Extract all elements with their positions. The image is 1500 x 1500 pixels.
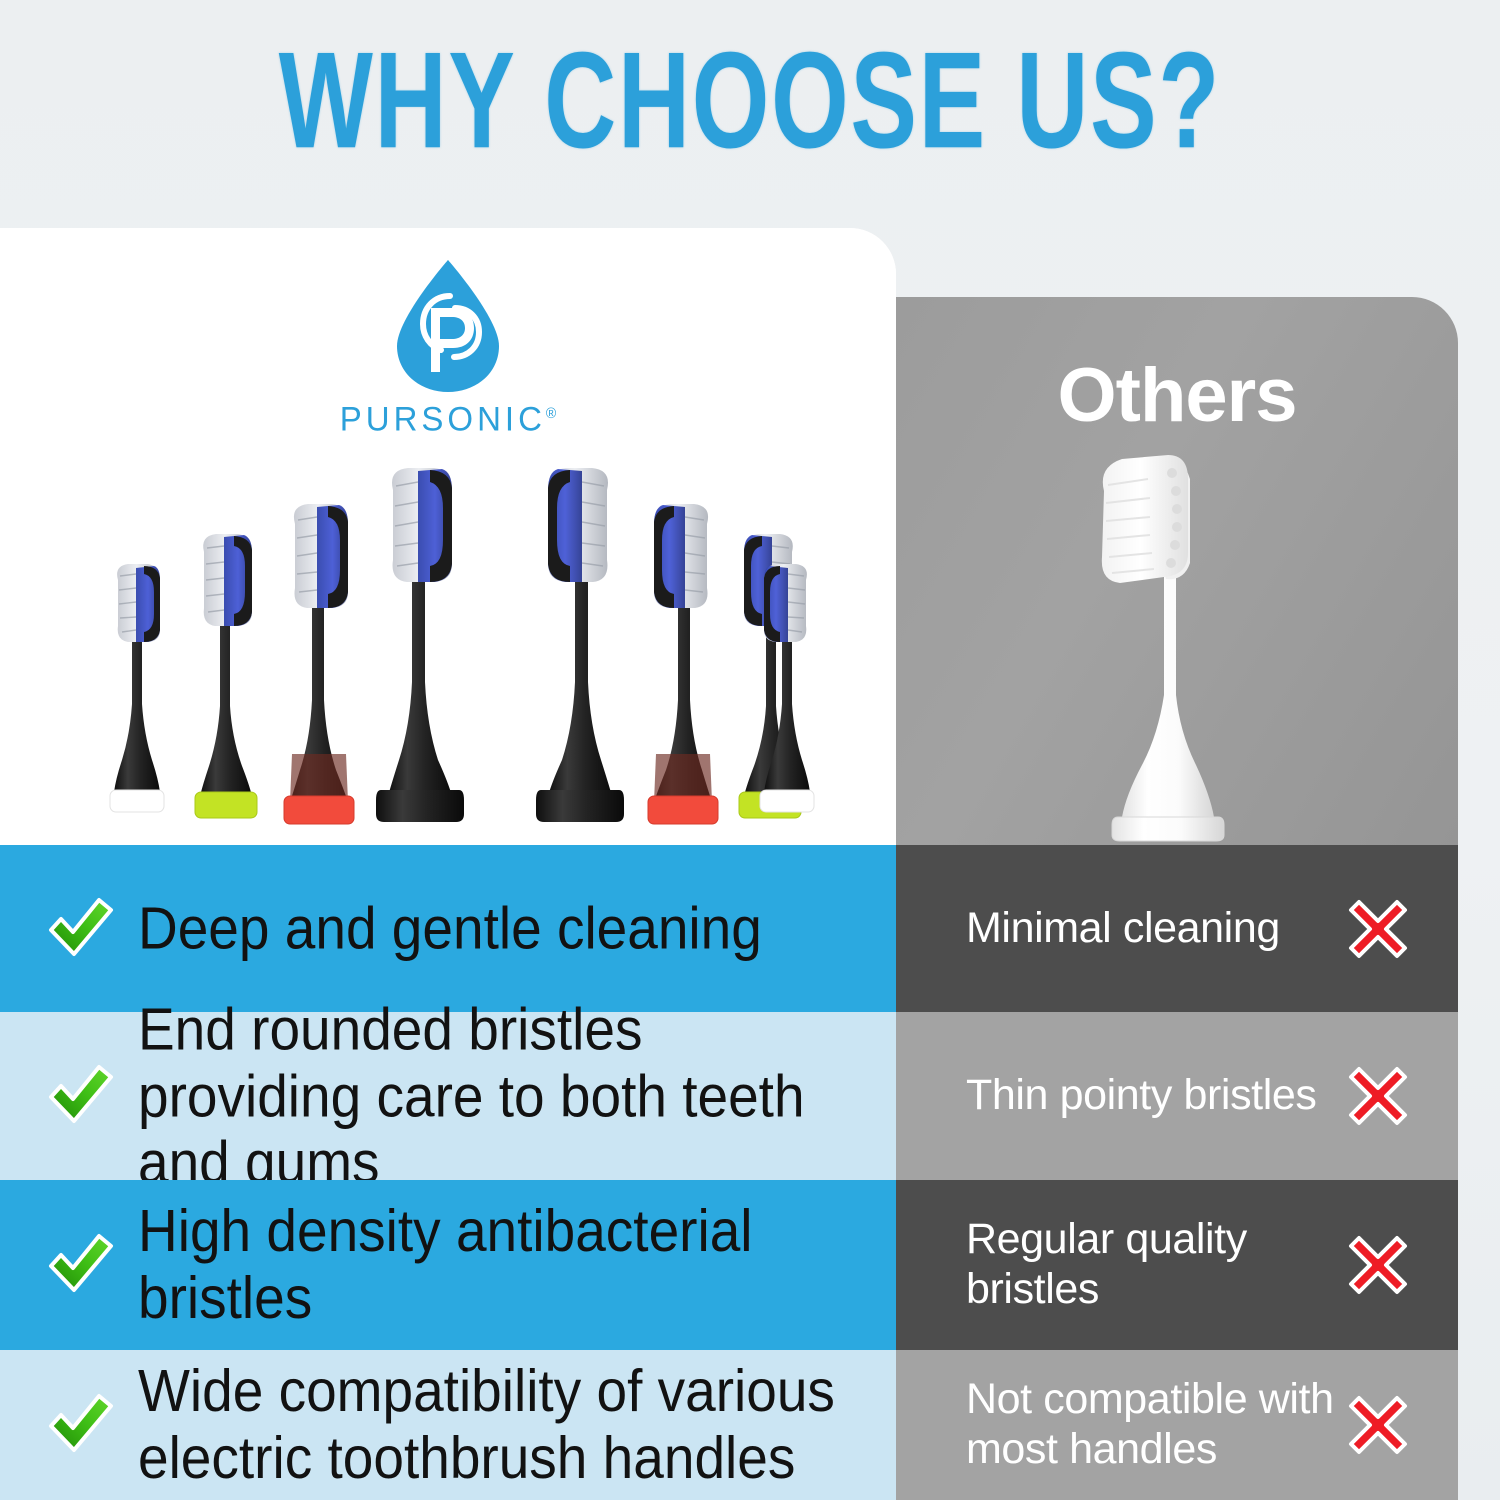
page-title: WHY CHOOSE US? <box>279 21 1221 179</box>
others-column-label: Others <box>896 352 1458 439</box>
registered-mark: ® <box>546 404 556 421</box>
pursonic-feature-row: High density antibacterial bristles <box>0 1180 896 1350</box>
red-x-icon <box>1338 1394 1418 1456</box>
brand-name: PURSONIC® <box>0 399 896 439</box>
pursonic-feature-row: End rounded bristles providing care to b… <box>0 1012 896 1180</box>
red-x-icon <box>1338 1234 1418 1296</box>
pursonic-feature-label: Deep and gentle cleaning <box>126 895 896 962</box>
infographic-page: WHY CHOOSE US? Others <box>0 0 1500 1500</box>
pursonic-column: PURSONIC® <box>0 228 896 1500</box>
pursonic-feature-row: Deep and gentle cleaning <box>0 845 896 1012</box>
brush-heads-svg <box>92 446 832 826</box>
others-column: Others <box>896 297 1458 1500</box>
green-check-icon <box>34 892 126 966</box>
brush-heads-image <box>92 446 832 826</box>
title-bar: WHY CHOOSE US? <box>0 0 1500 200</box>
brand-name-text: PURSONIC <box>340 399 546 438</box>
others-hero: Others <box>896 297 1458 845</box>
green-check-icon <box>34 1228 126 1302</box>
others-feature-label: Not compatible with most handles <box>966 1375 1338 1475</box>
others-feature-row: Regular quality bristles <box>896 1180 1458 1350</box>
others-feature-row: Not compatible with most handles <box>896 1350 1458 1500</box>
pursonic-feature-label: End rounded bristles providing care to b… <box>126 996 896 1196</box>
others-feature-label: Minimal cleaning <box>966 904 1338 954</box>
pursonic-feature-label: Wide compatibility of various electric t… <box>126 1358 896 1491</box>
green-check-icon <box>34 1059 126 1133</box>
red-x-icon <box>1338 898 1418 960</box>
pursonic-feature-row: Wide compatibility of various electric t… <box>0 1350 896 1500</box>
white-generic-brush-head-image <box>1064 445 1290 850</box>
pursonic-feature-label: High density antibacterial bristles <box>126 1198 896 1331</box>
pursonic-hero: PURSONIC® <box>0 228 896 845</box>
others-feature-row: Minimal cleaning <box>896 845 1458 1012</box>
others-feature-label: Regular quality bristles <box>966 1215 1338 1315</box>
water-drop-pb-logo-icon <box>387 256 509 396</box>
others-feature-row: Thin pointy bristles <box>896 1012 1458 1180</box>
brand-logo: PURSONIC® <box>0 256 896 438</box>
green-check-icon <box>34 1388 126 1462</box>
red-x-icon <box>1338 1065 1418 1127</box>
others-feature-label: Thin pointy bristles <box>966 1071 1338 1121</box>
